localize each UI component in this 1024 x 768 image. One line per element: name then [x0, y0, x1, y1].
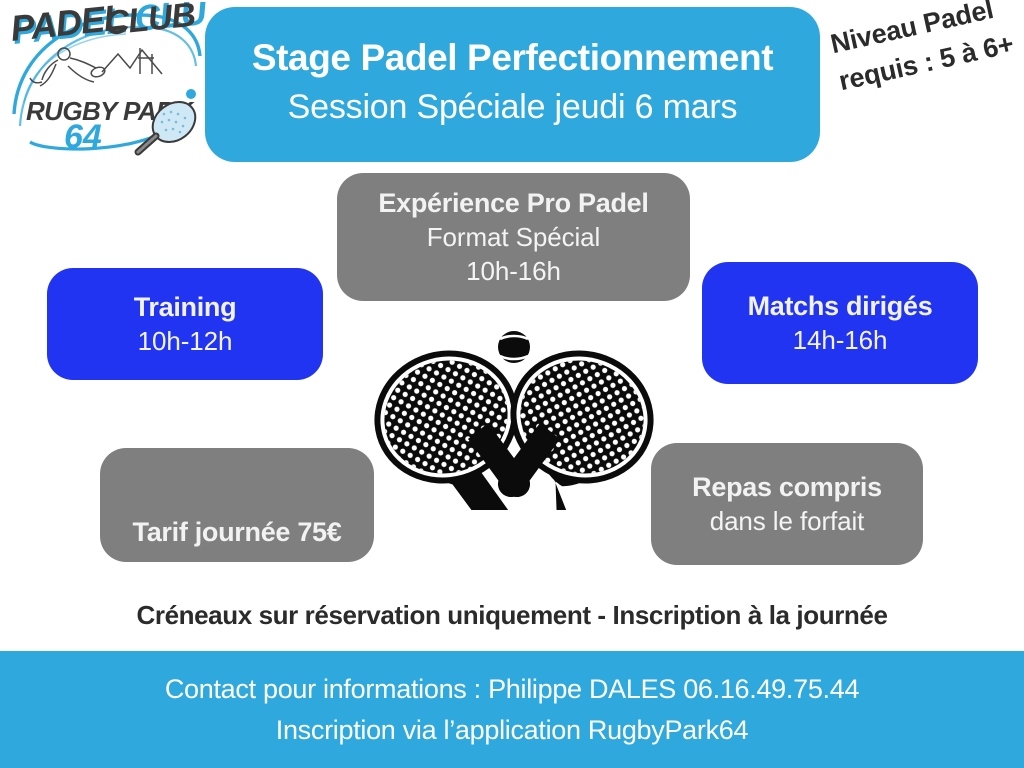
footer-contact-bar: Contact pour informations : Philippe DAL…	[0, 651, 1024, 768]
logo-number-64: 64	[64, 118, 102, 156]
page-subtitle: Session Spéciale jeudi 6 mars	[288, 86, 738, 129]
info-box-repas-detail: dans le forfait	[710, 505, 865, 538]
info-box-experience-title: Expérience Pro Padel	[378, 187, 648, 219]
reservation-note: Créneaux sur réservation uniquement - In…	[0, 600, 1024, 631]
info-box-training: Training 10h-12h	[47, 268, 323, 380]
info-box-experience-format: Format Spécial	[427, 221, 600, 254]
padel-ball-icon	[498, 331, 530, 363]
info-box-repas: Repas compris dans le forfait	[651, 443, 923, 565]
info-box-matchs: Matchs dirigés 14h-16h	[702, 262, 978, 384]
rugby-park-64-padel-club-logo: PADEL CLUB PADEL CLUB RUGBY PARK	[6, 2, 206, 162]
info-box-tarif-title: Tarif journée 75€	[133, 516, 342, 548]
svg-text:CLUB: CLUB	[103, 2, 197, 43]
padel-ball-icon	[186, 89, 196, 99]
info-box-training-hours: 10h-12h	[138, 325, 233, 358]
page-title: Stage Padel Perfectionnement	[252, 37, 773, 80]
info-box-matchs-title: Matchs dirigés	[748, 290, 933, 322]
footer-contact-line: Contact pour informations : Philippe DAL…	[165, 671, 859, 707]
header-banner: Stage Padel Perfectionnement Session Spé…	[205, 7, 820, 162]
info-box-training-title: Training	[134, 291, 237, 323]
footer-registration-line: Inscription via l’application RugbyPark6…	[276, 712, 748, 748]
info-box-repas-title: Repas compris	[692, 471, 882, 503]
mountains-icon	[102, 48, 162, 74]
logo-wordmark-padel-club: PADEL CLUB PADEL CLUB	[9, 2, 206, 52]
info-box-experience-hours: 10h-16h	[466, 255, 561, 288]
crossed-padel-rackets-icon	[342, 305, 686, 510]
info-box-experience: Expérience Pro Padel Format Spécial 10h-…	[337, 173, 690, 301]
padel-stage-poster: PADEL CLUB PADEL CLUB RUGBY PARK	[0, 0, 1024, 768]
info-box-tarif: Tarif journée 75€	[100, 448, 374, 562]
info-box-matchs-hours: 14h-16h	[793, 324, 888, 357]
level-requirement-note: Niveau Padel requis : 5 à 6+	[827, 0, 1024, 101]
